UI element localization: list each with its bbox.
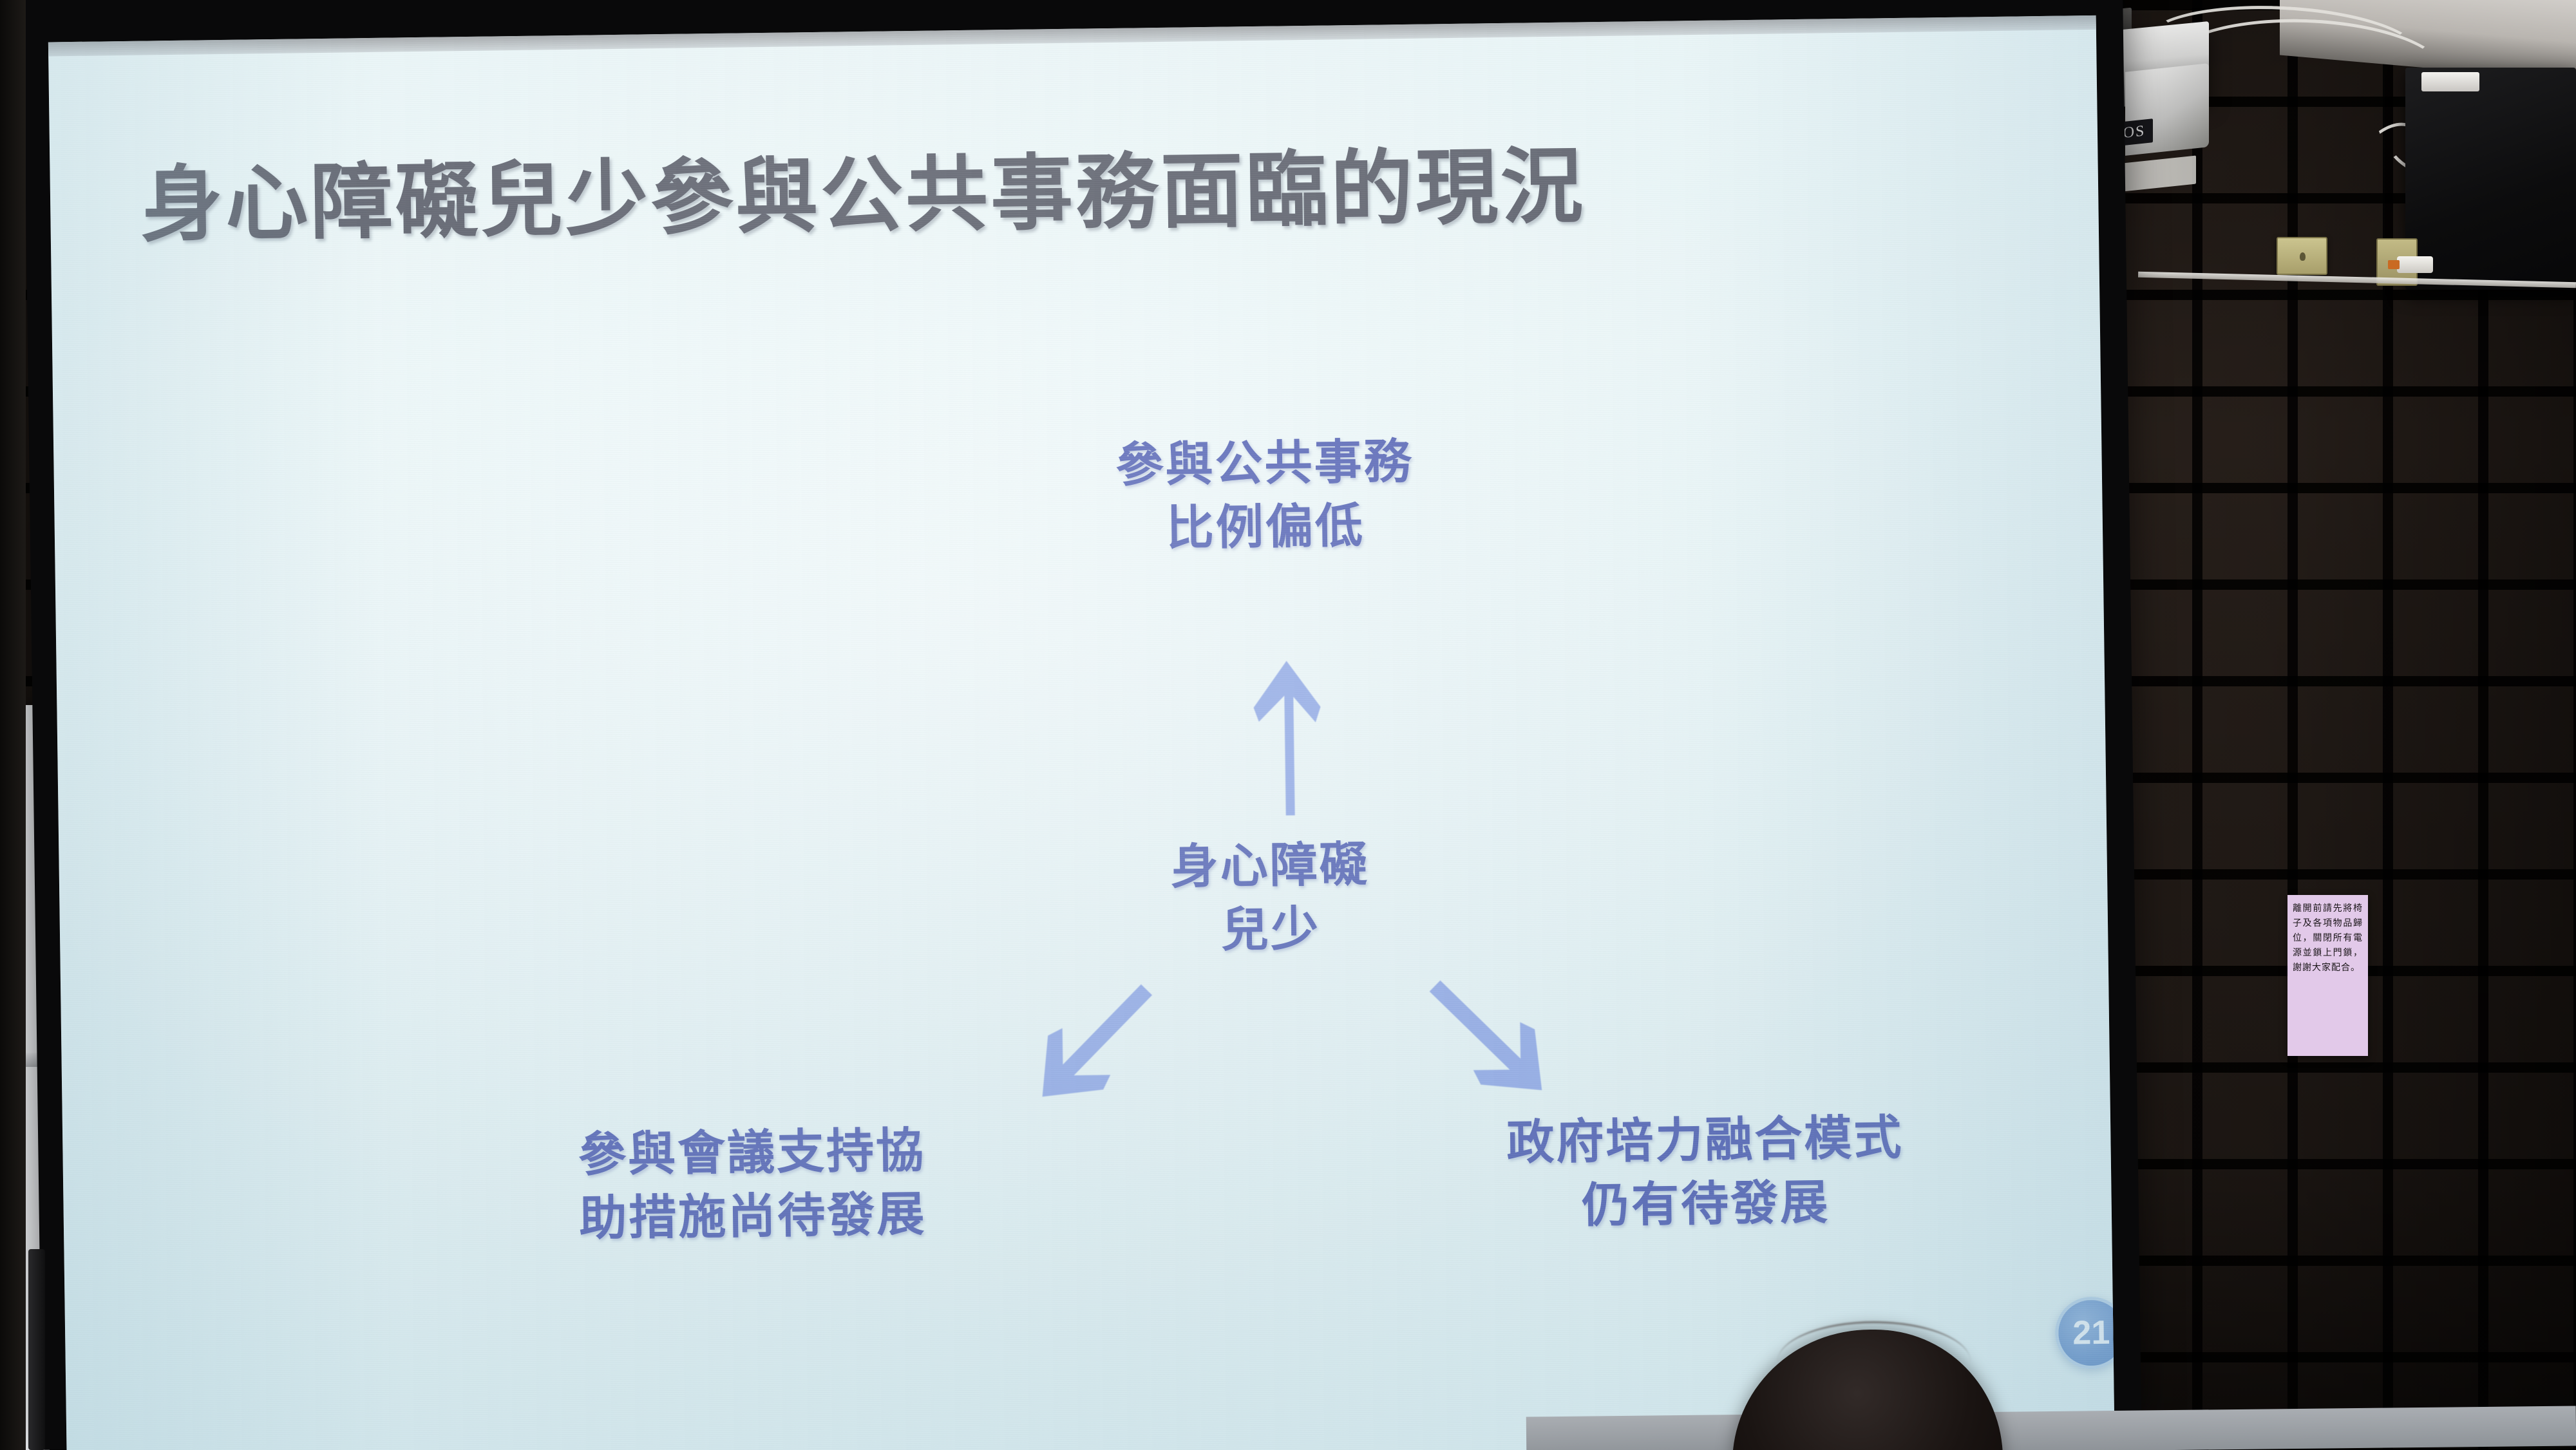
- projection-screen-surface: 身心障礙兒少參與公共事務面臨的現況 參與公共事務 比例偏低 身心障礙 兒少 參與…: [48, 15, 2115, 1450]
- diagram-node-bottom-right: 政府培力融合模式 仍有待發展: [1357, 1104, 2054, 1241]
- room-frame-left: [0, 0, 26, 1450]
- photo-scene: CASOS 離開前請先將椅子及各項物品歸位，關閉所有電源並鎖上門鎖，謝謝大家配合…: [0, 0, 2576, 1450]
- arrow-up-icon: [1189, 623, 1385, 819]
- wall-notice-sign: 離開前請先將椅子及各項物品歸位，關閉所有電源並鎖上門鎖，謝謝大家配合。: [2287, 895, 2368, 1056]
- tripod-post: [28, 1249, 45, 1450]
- electrical-outlet-box[interactable]: [2277, 237, 2327, 275]
- diagram-node-top: 參與公共事務 比例偏低: [942, 428, 1588, 563]
- diagram-node-center: 身心障礙 兒少: [973, 831, 1567, 966]
- slide-page-number-badge: 21: [2055, 1296, 2115, 1369]
- slide-title: 身心障礙兒少參與公共事務面臨的現況: [140, 135, 1815, 254]
- slide: 身心障礙兒少參與公共事務面臨的現況 參與公共事務 比例偏低 身心障礙 兒少 參與…: [48, 15, 2115, 1450]
- diagram-node-bottom-left: 參與會議支持協 助措施尚待發展: [404, 1116, 1101, 1253]
- speaker-mount-clip: [2421, 72, 2479, 91]
- projection-screen-frame: 身心障礙兒少參與公共事務面臨的現況 參與公共事務 比例偏低 身心障礙 兒少 參與…: [23, 0, 2141, 1450]
- power-plug[interactable]: [2397, 256, 2433, 273]
